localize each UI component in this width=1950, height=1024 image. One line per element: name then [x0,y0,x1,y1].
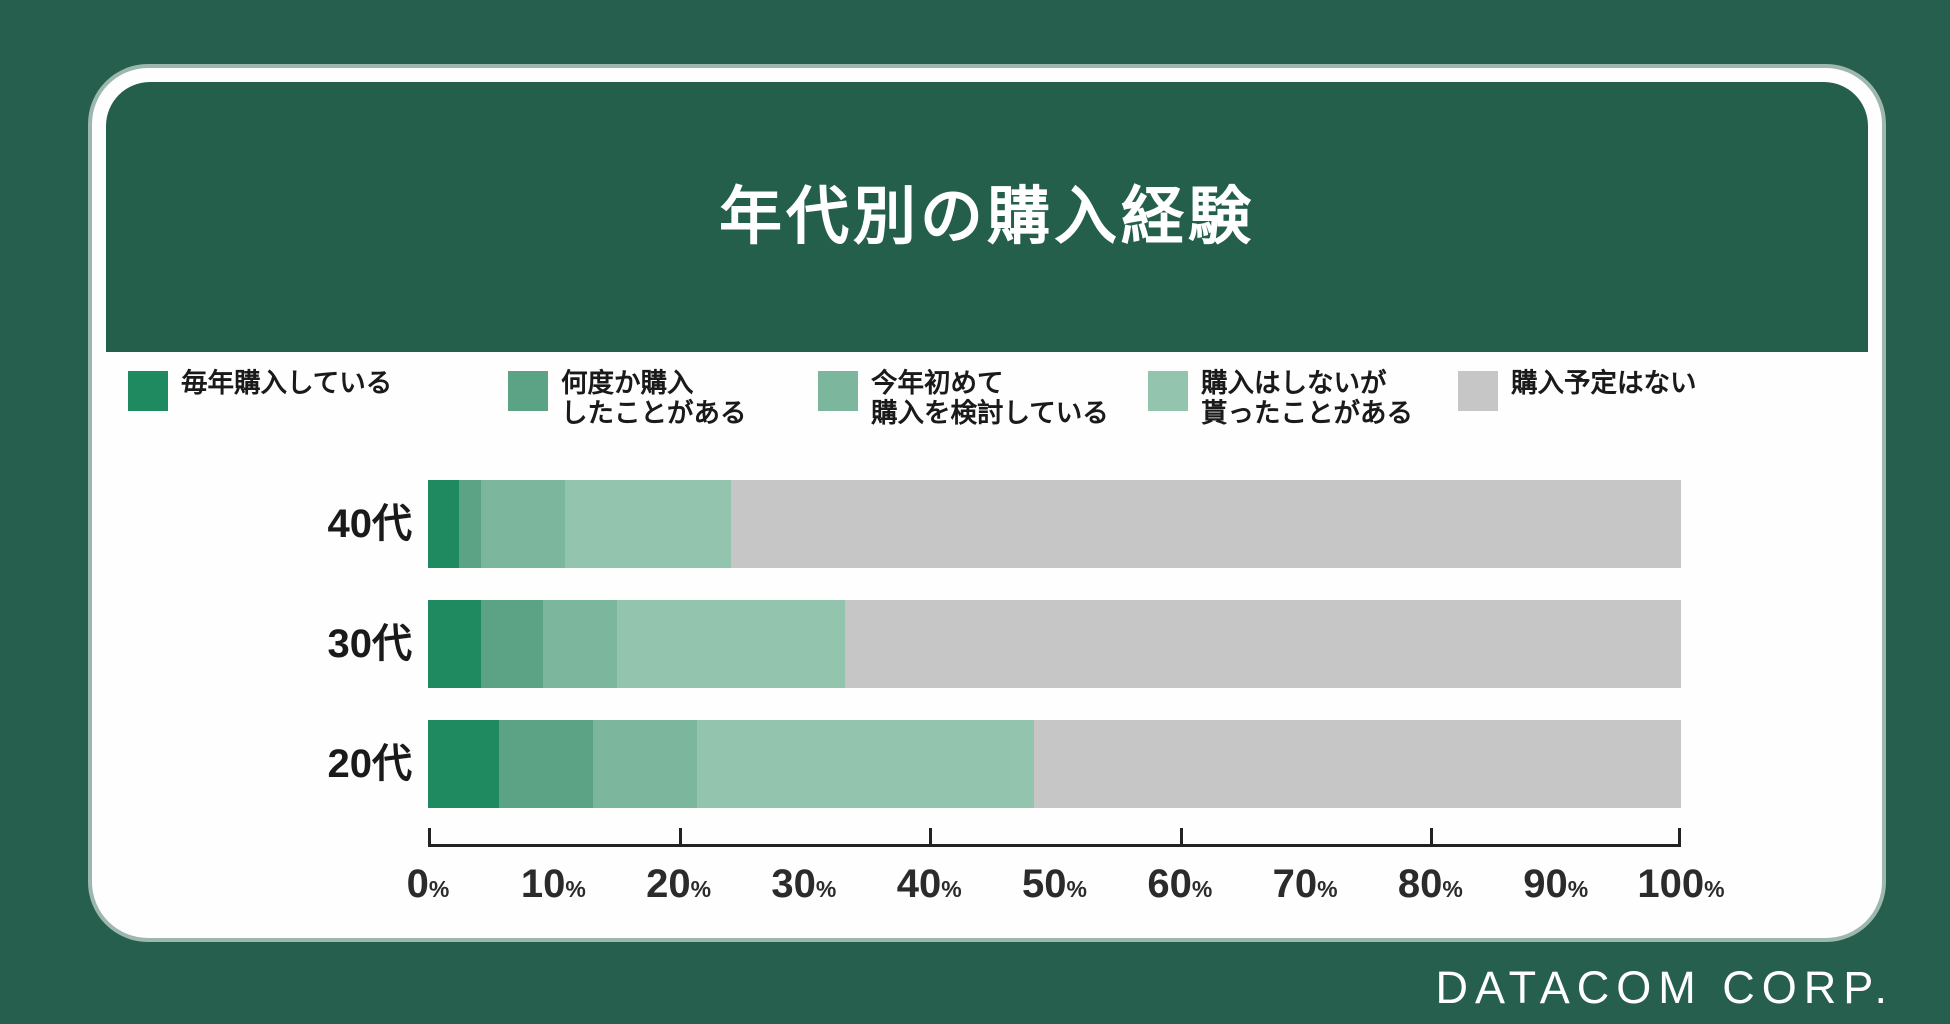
bar-segment[interactable] [428,600,481,688]
category-label: 30代 [212,600,412,688]
tick-unit: % [429,876,449,902]
legend-swatch-icon [128,371,168,411]
x-axis-tick-label: 10% [521,862,586,907]
tick-unit: % [1192,876,1212,902]
x-axis-tick-label: 80% [1398,862,1463,907]
bar-segment[interactable] [845,600,1681,688]
tick-value: 90 [1523,862,1568,906]
legend-swatch-icon [818,371,858,411]
title-band: 年代別の購入経験 [106,82,1868,352]
legend-swatch-icon [1458,371,1498,411]
x-axis-tick [1180,828,1183,846]
tick-value: 20 [646,862,691,906]
x-axis-tick-label: 100% [1637,862,1724,907]
tick-unit: % [1442,876,1462,902]
chart-bar-row: 30代 [92,600,1882,688]
x-axis-tick-label: 50% [1022,862,1087,907]
tick-value: 100 [1637,862,1704,906]
chart-bar-row: 20代 [92,720,1882,808]
tick-unit: % [941,876,961,902]
tick-value: 10 [521,862,566,906]
stacked-bar [428,720,1681,808]
x-axis-tick-label: 0% [407,862,450,907]
legend-item-label: 何度か購入 したことがある [561,368,861,428]
legend-item[interactable]: 購入予定はない [1458,368,1811,411]
bar-segment[interactable] [697,720,1034,808]
x-axis-tick-label: 70% [1273,862,1338,907]
tick-value: 70 [1273,862,1318,906]
bar-segment[interactable] [428,480,459,568]
bar-segment[interactable] [617,600,845,688]
tick-value: 30 [771,862,816,906]
category-label: 20代 [212,720,412,808]
bar-segment[interactable] [481,480,565,568]
page-title: 年代別の購入経験 [719,186,1255,249]
bar-segment[interactable] [428,720,499,808]
x-axis-tick [1678,828,1681,846]
tick-value: 40 [897,862,942,906]
chart-plot-area: 40代30代20代 [92,458,1882,878]
tick-unit: % [1317,876,1337,902]
legend-item[interactable]: 今年初めて 購入を検討している [818,368,1201,428]
x-axis-tick [428,828,431,846]
content-card: 年代別の購入経験 毎年購入している何度か購入 したことがある今年初めて 購入を検… [92,68,1882,938]
chart-legend: 毎年購入している何度か購入 したことがある今年初めて 購入を検討している購入はし… [128,368,1848,446]
tick-unit: % [1568,876,1588,902]
legend-item[interactable]: 購入はしないが 貰ったことがある [1148,368,1501,428]
legend-swatch-icon [508,371,548,411]
tick-value: 60 [1147,862,1192,906]
x-axis-tick-label: 30% [771,862,836,907]
stacked-bar [428,600,1681,688]
bar-segment[interactable] [499,720,593,808]
x-axis: 0%10%20%30%40%50%60%70%80%90%100% [428,826,1681,936]
x-axis-tick [1430,828,1433,846]
x-axis-tick-label: 20% [646,862,711,907]
chart-bar-row: 40代 [92,480,1882,568]
category-label: 40代 [212,480,412,568]
legend-item[interactable]: 毎年購入している [128,368,511,411]
bar-segment[interactable] [459,480,480,568]
bar-segment[interactable] [565,480,732,568]
tick-unit: % [816,876,836,902]
bar-segment[interactable] [731,480,1681,568]
bar-segment[interactable] [543,600,617,688]
bar-segment[interactable] [1034,720,1681,808]
slide-background: 年代別の購入経験 毎年購入している何度か購入 したことがある今年初めて 購入を検… [0,0,1950,1024]
x-axis-tick-label: 60% [1147,862,1212,907]
bar-segment[interactable] [481,600,544,688]
tick-unit: % [565,876,585,902]
tick-value: 0 [407,862,429,906]
tick-unit: % [1704,876,1724,902]
legend-item-label: 毎年購入している [181,368,511,398]
legend-item-label: 購入はしないが 貰ったことがある [1201,368,1501,428]
brand-logo-text: DATACOM CORP. [1435,965,1894,1010]
x-axis-tick-label: 40% [897,862,962,907]
tick-unit: % [691,876,711,902]
x-axis-line [428,844,1681,847]
stacked-bar [428,480,1681,568]
legend-swatch-icon [1148,371,1188,411]
legend-item[interactable]: 何度か購入 したことがある [508,368,861,428]
tick-value: 50 [1022,862,1067,906]
legend-item-label: 購入予定はない [1511,368,1811,398]
x-axis-tick [679,828,682,846]
tick-value: 80 [1398,862,1443,906]
bar-segment[interactable] [593,720,697,808]
x-axis-tick-label: 90% [1523,862,1588,907]
x-axis-tick [929,828,932,846]
tick-unit: % [1067,876,1087,902]
